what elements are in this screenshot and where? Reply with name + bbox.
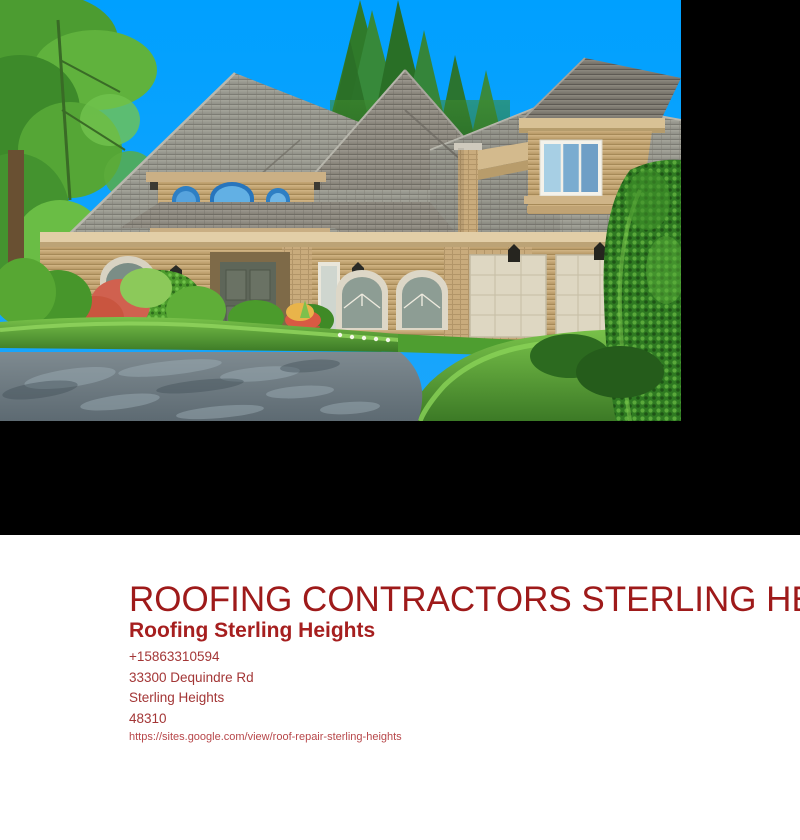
street-address: 33300 Dequindre Rd <box>129 668 254 689</box>
phone-number: +15863310594 <box>129 647 254 668</box>
page-subtitle: Roofing Sterling Heights <box>129 618 375 644</box>
hero-banner <box>0 0 800 535</box>
page-root: ROOFING CONTRACTORS STERLING HEIGHTS Roo… <box>0 0 800 840</box>
website-link[interactable]: https://sites.google.com/view/roof-repai… <box>129 730 402 744</box>
contact-details: +15863310594 33300 Dequindre Rd Sterling… <box>129 647 254 729</box>
page-title: ROOFING CONTRACTORS STERLING HEIGHTS <box>129 580 800 620</box>
listing-content: ROOFING CONTRACTORS STERLING HEIGHTS Roo… <box>0 535 800 840</box>
postal-code: 48310 <box>129 709 254 730</box>
roof-photo <box>0 0 681 421</box>
city-name: Sterling Heights <box>129 688 254 709</box>
